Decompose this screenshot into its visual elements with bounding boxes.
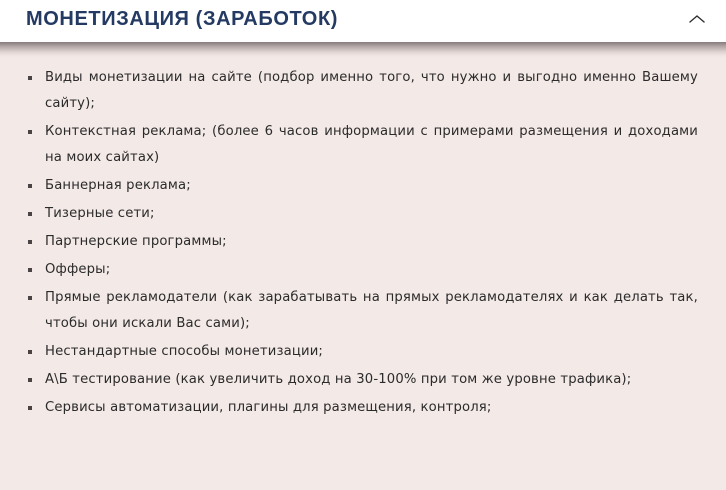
list-item: Нестандартные способы монетизации; (28, 339, 698, 365)
monetization-topics-list: Виды монетизации на сайте (подбор именно… (0, 59, 726, 421)
section-header: МОНЕТИЗАЦИЯ (ЗАРАБОТОК) (0, 0, 726, 42)
list-item: Контекстная реклама; (более 6 часов инфо… (28, 119, 698, 171)
list-item: Тизерные сети; (28, 201, 698, 227)
list-item: Офферы; (28, 257, 698, 283)
list-item: Баннерная реклама; (28, 173, 698, 199)
list-item: Сервисы автоматизации, плагины для разме… (28, 395, 698, 421)
list-item: Партнерские программы; (28, 229, 698, 255)
list-item: Виды монетизации на сайте (подбор именно… (28, 65, 698, 117)
monetization-section-panel: МОНЕТИЗАЦИЯ (ЗАРАБОТОК) Виды монетизации… (0, 0, 726, 490)
list-item: А\Б тестирование (как увеличить доход на… (28, 367, 698, 393)
chevron-up-icon (688, 13, 706, 25)
collapse-toggle-button[interactable] (682, 6, 712, 32)
section-content: Виды монетизации на сайте (подбор именно… (0, 59, 726, 490)
list-item: Прямые рекламодатели (как зарабатывать н… (28, 285, 698, 337)
page-title: МОНЕТИЗАЦИЯ (ЗАРАБОТОК) (26, 8, 338, 31)
header-drop-shadow (0, 42, 726, 59)
